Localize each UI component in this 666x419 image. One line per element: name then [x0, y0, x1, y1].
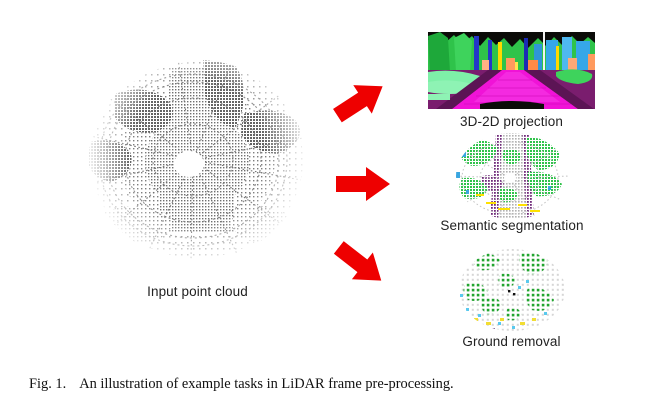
projection-image: [428, 32, 595, 109]
ground-removal-image: [456, 248, 568, 334]
input-point-cloud-label: Input point cloud: [85, 284, 310, 299]
figure-illustration: Input point cloud: [0, 0, 666, 372]
ground-removal-panel: Ground removal: [424, 248, 599, 356]
projection-label: 3D-2D projection: [424, 114, 599, 129]
figure-caption: Fig. 1.An illustration of example tasks …: [29, 376, 649, 393]
input-point-cloud-panel: Input point cloud: [85, 32, 310, 272]
arrow-to-projection-icon: [328, 72, 392, 130]
ground-removal-label: Ground removal: [424, 334, 599, 349]
semantic-segmentation-image: [452, 132, 572, 220]
arrow-to-ground-icon: [328, 234, 391, 294]
projection-panel: 3D-2D projection: [424, 30, 599, 130]
point-cloud-icon: [85, 32, 310, 272]
figure-caption-text: An illustration of example tasks in LiDA…: [79, 376, 453, 392]
arrow-to-semantic-icon: [336, 167, 390, 201]
figure-number: Fig. 1.: [29, 376, 66, 392]
semantic-segmentation-panel: Semantic segmentation: [420, 132, 604, 238]
semantic-segmentation-label: Semantic segmentation: [420, 218, 604, 233]
